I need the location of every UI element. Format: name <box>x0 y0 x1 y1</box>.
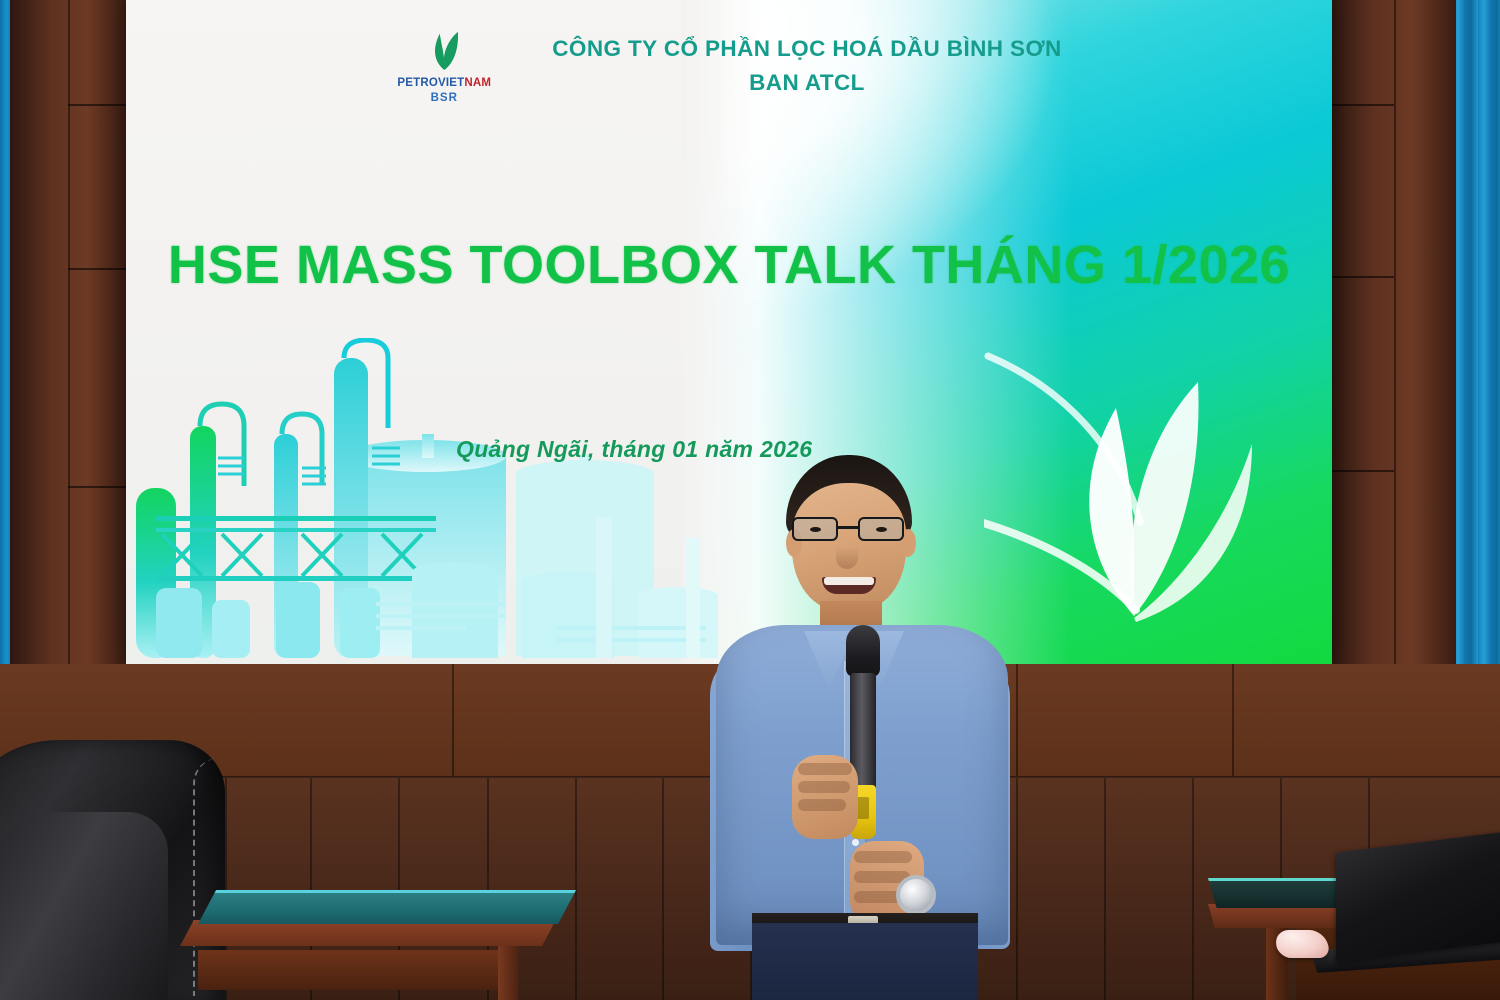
laptop-screen[interactable] <box>1336 831 1500 962</box>
wristwatch <box>896 875 936 915</box>
company-name-line: CÔNG TY CỔ PHẦN LỌC HOÁ DẦU BÌNH SƠN <box>552 36 1061 62</box>
department-name-line: BAN ATCL <box>552 70 1061 96</box>
presenter-podium <box>1208 868 1500 1000</box>
logo-wordmark: PETROVIETNAM <box>396 78 492 90</box>
presenter <box>700 455 1020 1000</box>
side-table <box>198 890 558 1000</box>
shirt-button <box>852 839 859 846</box>
slide-header: PETROVIETNAM BSR CÔNG TY CỔ PHẦN LỌC HOÁ… <box>126 26 1332 104</box>
presenter-nose <box>836 547 858 569</box>
table-glass-top <box>198 890 576 924</box>
flame-icon <box>417 30 472 70</box>
screenshot-root: PETROVIETNAM BSR CÔNG TY CỔ PHẦN LỌC HOÁ… <box>0 0 1500 1000</box>
logo-wordmark-petro: PETROVIET <box>397 77 464 89</box>
petrovietnam-bsr-logo: PETROVIETNAM BSR <box>396 26 492 104</box>
presenter-mouth <box>822 577 876 594</box>
presenter-trousers <box>752 923 978 1000</box>
eyeglasses-icon <box>788 517 910 541</box>
logo-sub-wordmark: BSR <box>396 92 492 104</box>
leaf-flame-ornament <box>984 326 1284 626</box>
presenter-hand-left <box>792 755 858 839</box>
slide-title: HSE MASS TOOLBOX TALK THÁNG 1/2026 <box>126 234 1332 296</box>
logo-wordmark-nam: NAM <box>464 77 491 89</box>
office-chair <box>0 740 225 1000</box>
slide-org-heading: CÔNG TY CỔ PHẦN LỌC HOÁ DẦU BÌNH SƠN BAN… <box>552 26 1061 96</box>
microphone-head <box>846 625 880 677</box>
